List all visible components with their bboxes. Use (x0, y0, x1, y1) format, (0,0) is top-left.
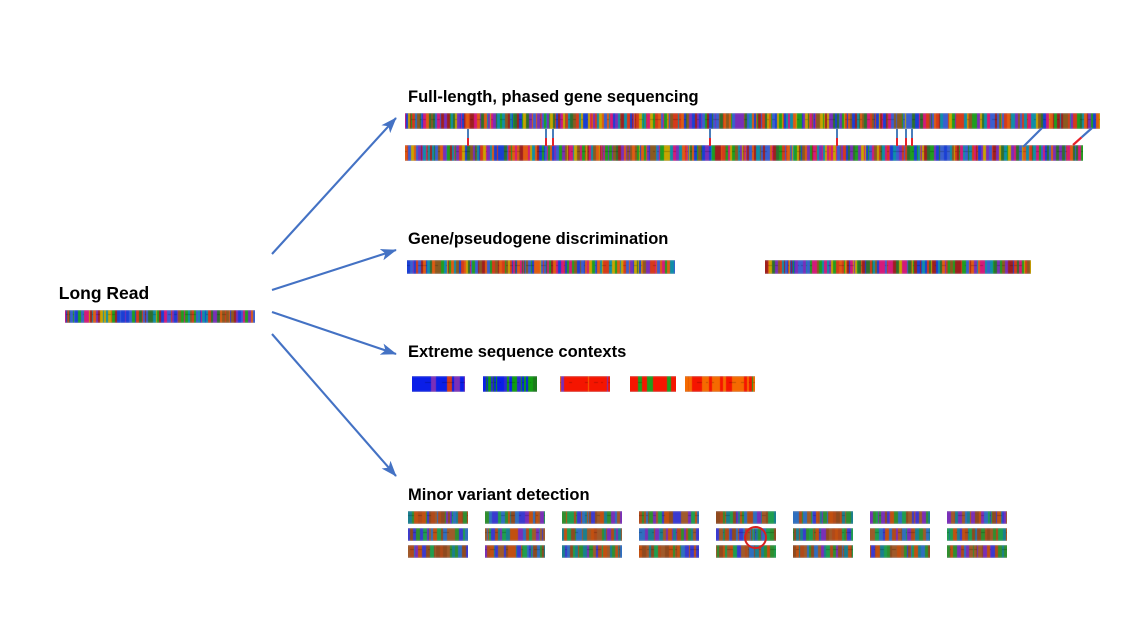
arrow-to-full-length (272, 118, 396, 254)
tick-lower-half (467, 138, 469, 147)
variant-pointer-right-tail (1073, 137, 1082, 145)
long-read-bar (65, 310, 255, 323)
read-cell-r1-c6 (870, 528, 930, 541)
read-cell-r0-c0 (408, 511, 468, 524)
minor-variant-highlight (744, 526, 767, 549)
tick-upper-half (545, 129, 547, 138)
read-cell-r2-c1 (485, 545, 545, 558)
diagram-canvas: Long Read Full-length, phased gene seque… (0, 0, 1129, 626)
section-label-minor-variant: Minor variant detection (408, 486, 590, 505)
read-cell-r2-c3 (639, 545, 699, 558)
read-cell-r2-c7 (947, 545, 1007, 558)
context-bar-homopolymer (630, 376, 676, 392)
pseudogene-bar (765, 260, 1031, 274)
tick-lower-half (545, 138, 547, 147)
tick-lower-half (709, 138, 711, 147)
haplotype-bar-top (405, 113, 1100, 129)
variant-tick-full-length-1 (545, 129, 547, 146)
section-label-full-length: Full-length, phased gene sequencing (408, 88, 699, 107)
context-bar-at-rich (560, 376, 610, 392)
read-cell-r1-c7 (947, 528, 1007, 541)
gene-bar (407, 260, 675, 274)
arrow-to-gene-pseudogene (272, 250, 396, 290)
read-cell-r1-c1 (485, 528, 545, 541)
read-cell-r1-c0 (408, 528, 468, 541)
tick-upper-half (552, 129, 554, 138)
tick-lower-half (552, 138, 554, 147)
tick-upper-half (896, 129, 898, 138)
variant-tick-full-length-2 (552, 129, 554, 146)
arrow-to-minor-variant (272, 334, 396, 476)
read-cell-r0-c4 (716, 511, 776, 524)
read-cell-r2-c0 (408, 545, 468, 558)
context-bar-gc-stripe (483, 376, 537, 392)
tick-upper-half (911, 129, 913, 138)
long-read-label: Long Read (59, 283, 149, 304)
tick-upper-half (467, 129, 469, 138)
variant-tick-full-length-6 (905, 129, 907, 146)
read-cell-r0-c7 (947, 511, 1007, 524)
read-cell-r1-c3 (639, 528, 699, 541)
read-cell-r2-c6 (870, 545, 930, 558)
read-cell-r0-c5 (793, 511, 853, 524)
tick-lower-half (896, 138, 898, 147)
read-cell-r0-c6 (870, 511, 930, 524)
read-cell-r2-c5 (793, 545, 853, 558)
tick-upper-half (905, 129, 907, 138)
read-cell-r1-c2 (562, 528, 622, 541)
variant-tick-full-length-3 (709, 129, 711, 146)
read-cell-r2-c4 (716, 545, 776, 558)
read-cell-r2-c2 (562, 545, 622, 558)
section-label-gene-pseudogene: Gene/pseudogene discrimination (408, 230, 668, 249)
variant-tick-full-length-5 (896, 129, 898, 146)
tick-lower-half (836, 138, 838, 147)
read-cell-r0-c1 (485, 511, 545, 524)
read-cell-r0-c3 (639, 511, 699, 524)
read-cell-r1-c5 (793, 528, 853, 541)
variant-tick-full-length-7 (911, 129, 913, 146)
tick-lower-half (905, 138, 907, 147)
variant-pointer-right (1082, 128, 1092, 137)
arrow-to-extreme (272, 312, 396, 354)
context-bar-tandem (685, 376, 755, 392)
tick-upper-half (836, 129, 838, 138)
variant-tick-full-length-4 (836, 129, 838, 146)
haplotype-bar-bottom (405, 145, 1083, 161)
variant-tick-full-length-0 (467, 129, 469, 146)
tick-upper-half (709, 129, 711, 138)
context-bar-blue-rich (412, 376, 465, 392)
section-label-extreme-contexts: Extreme sequence contexts (408, 343, 626, 362)
read-cell-r0-c2 (562, 511, 622, 524)
tick-lower-half (911, 138, 913, 147)
